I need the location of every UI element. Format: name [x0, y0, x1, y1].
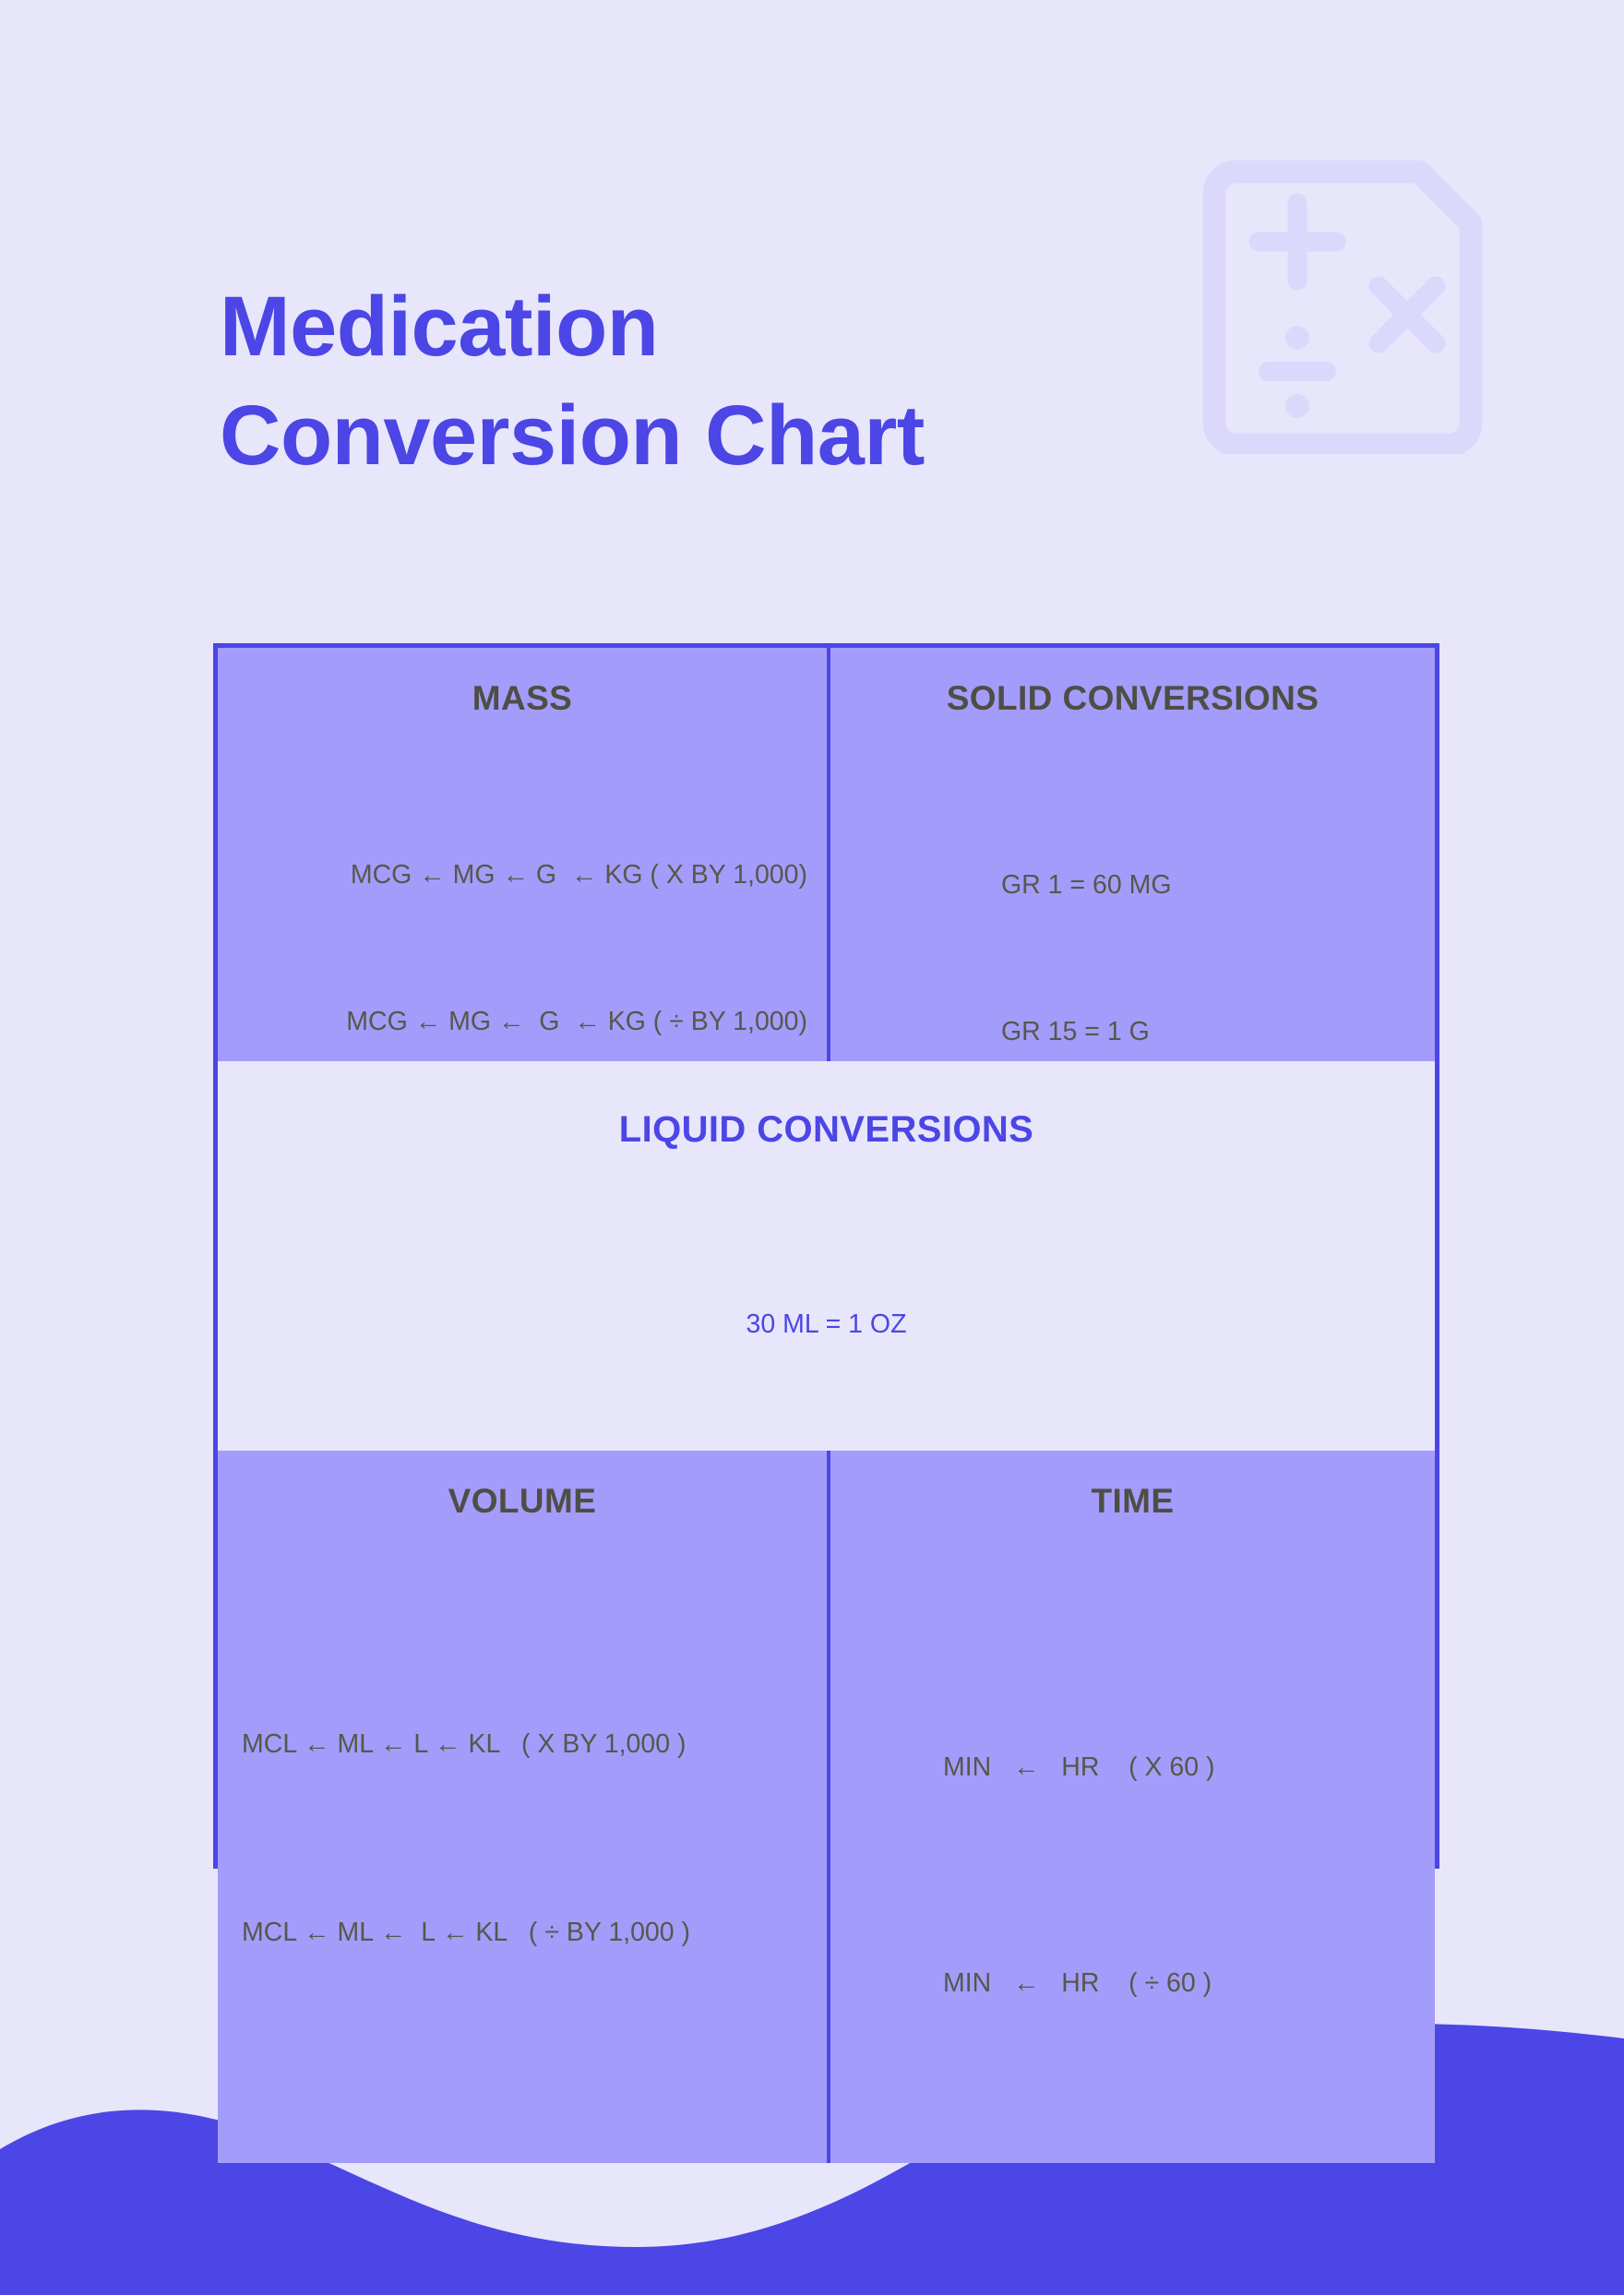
panel-volume-lines: MCL ← ML ← L ← KL ( X BY 1,000 ) MCL ← M…	[218, 1587, 827, 2089]
panel-time-heading: TIME	[830, 1482, 1435, 1521]
chart-row-liquid: LIQUID CONVERSIONS 30 ML = 1 OZ 1 TSP = …	[218, 1061, 1435, 1451]
page-title-line-2: Conversion Chart	[220, 382, 1235, 491]
panel-volume-heading: VOLUME	[218, 1482, 827, 1521]
solid-line-1: GR 1 = 60 MG	[1001, 861, 1435, 910]
document-outline-icon	[1214, 172, 1471, 445]
calculator-document-icon	[1198, 140, 1493, 454]
panel-mass-heading: MASS	[218, 679, 827, 718]
chart-row-top: MASS MCG ← MG ← G ← KG ( X BY 1,000) MCG…	[218, 648, 1435, 1061]
panel-solid-conversions: SOLID CONVERSIONS GR 1 = 60 MG GR 15 = 1…	[830, 648, 1435, 1061]
page-title-line-1: Medication	[220, 273, 1235, 382]
panel-solid-heading: SOLID CONVERSIONS	[830, 679, 1435, 718]
plus-icon	[1259, 203, 1336, 281]
panel-time: TIME MIN ← HR ( X 60 ) MIN ← HR ( ÷ 60 )	[830, 1451, 1435, 2163]
panel-time-lines: MIN ← HR ( X 60 ) MIN ← HR ( ÷ 60 )	[830, 1587, 1435, 2163]
conversion-chart-grid: MASS MCG ← MG ← G ← KG ( X BY 1,000) MCG…	[213, 643, 1439, 1869]
volume-line-1: MCL ← ML ← L ← KL ( X BY 1,000 )	[242, 1713, 827, 1775]
panel-mass: MASS MCG ← MG ← G ← KG ( X BY 1,000) MCG…	[218, 648, 830, 1061]
time-line-2: MIN ← HR ( ÷ 60 )	[943, 1947, 1435, 2019]
divide-icon	[1259, 326, 1336, 418]
page-title: Medication Conversion Chart	[220, 273, 1235, 491]
chart-row-bottom: VOLUME MCL ← ML ← L ← KL ( X BY 1,000 ) …	[218, 1451, 1435, 2163]
solid-line-2: GR 15 = 1 G	[1001, 1008, 1435, 1057]
liquid-line-1: 30 ML = 1 OZ	[218, 1300, 1435, 1349]
mass-line-2: MCG ← MG ← G ← KG ( ÷ BY 1,000)	[218, 998, 807, 1046]
mass-line-1: MCG ← MG ← G ← KG ( X BY 1,000)	[218, 851, 807, 900]
volume-line-2: MCL ← ML ← L ← KL ( ÷ BY 1,000 )	[242, 1901, 827, 1964]
panel-liquid-heading: LIQUID CONVERSIONS	[218, 1109, 1435, 1151]
time-line-1: MIN ← HR ( X 60 )	[943, 1731, 1435, 1803]
panel-liquid-conversions: LIQUID CONVERSIONS 30 ML = 1 OZ 1 TSP = …	[218, 1061, 1435, 1451]
panel-volume: VOLUME MCL ← ML ← L ← KL ( X BY 1,000 ) …	[218, 1451, 830, 2163]
multiply-icon	[1379, 286, 1436, 343]
